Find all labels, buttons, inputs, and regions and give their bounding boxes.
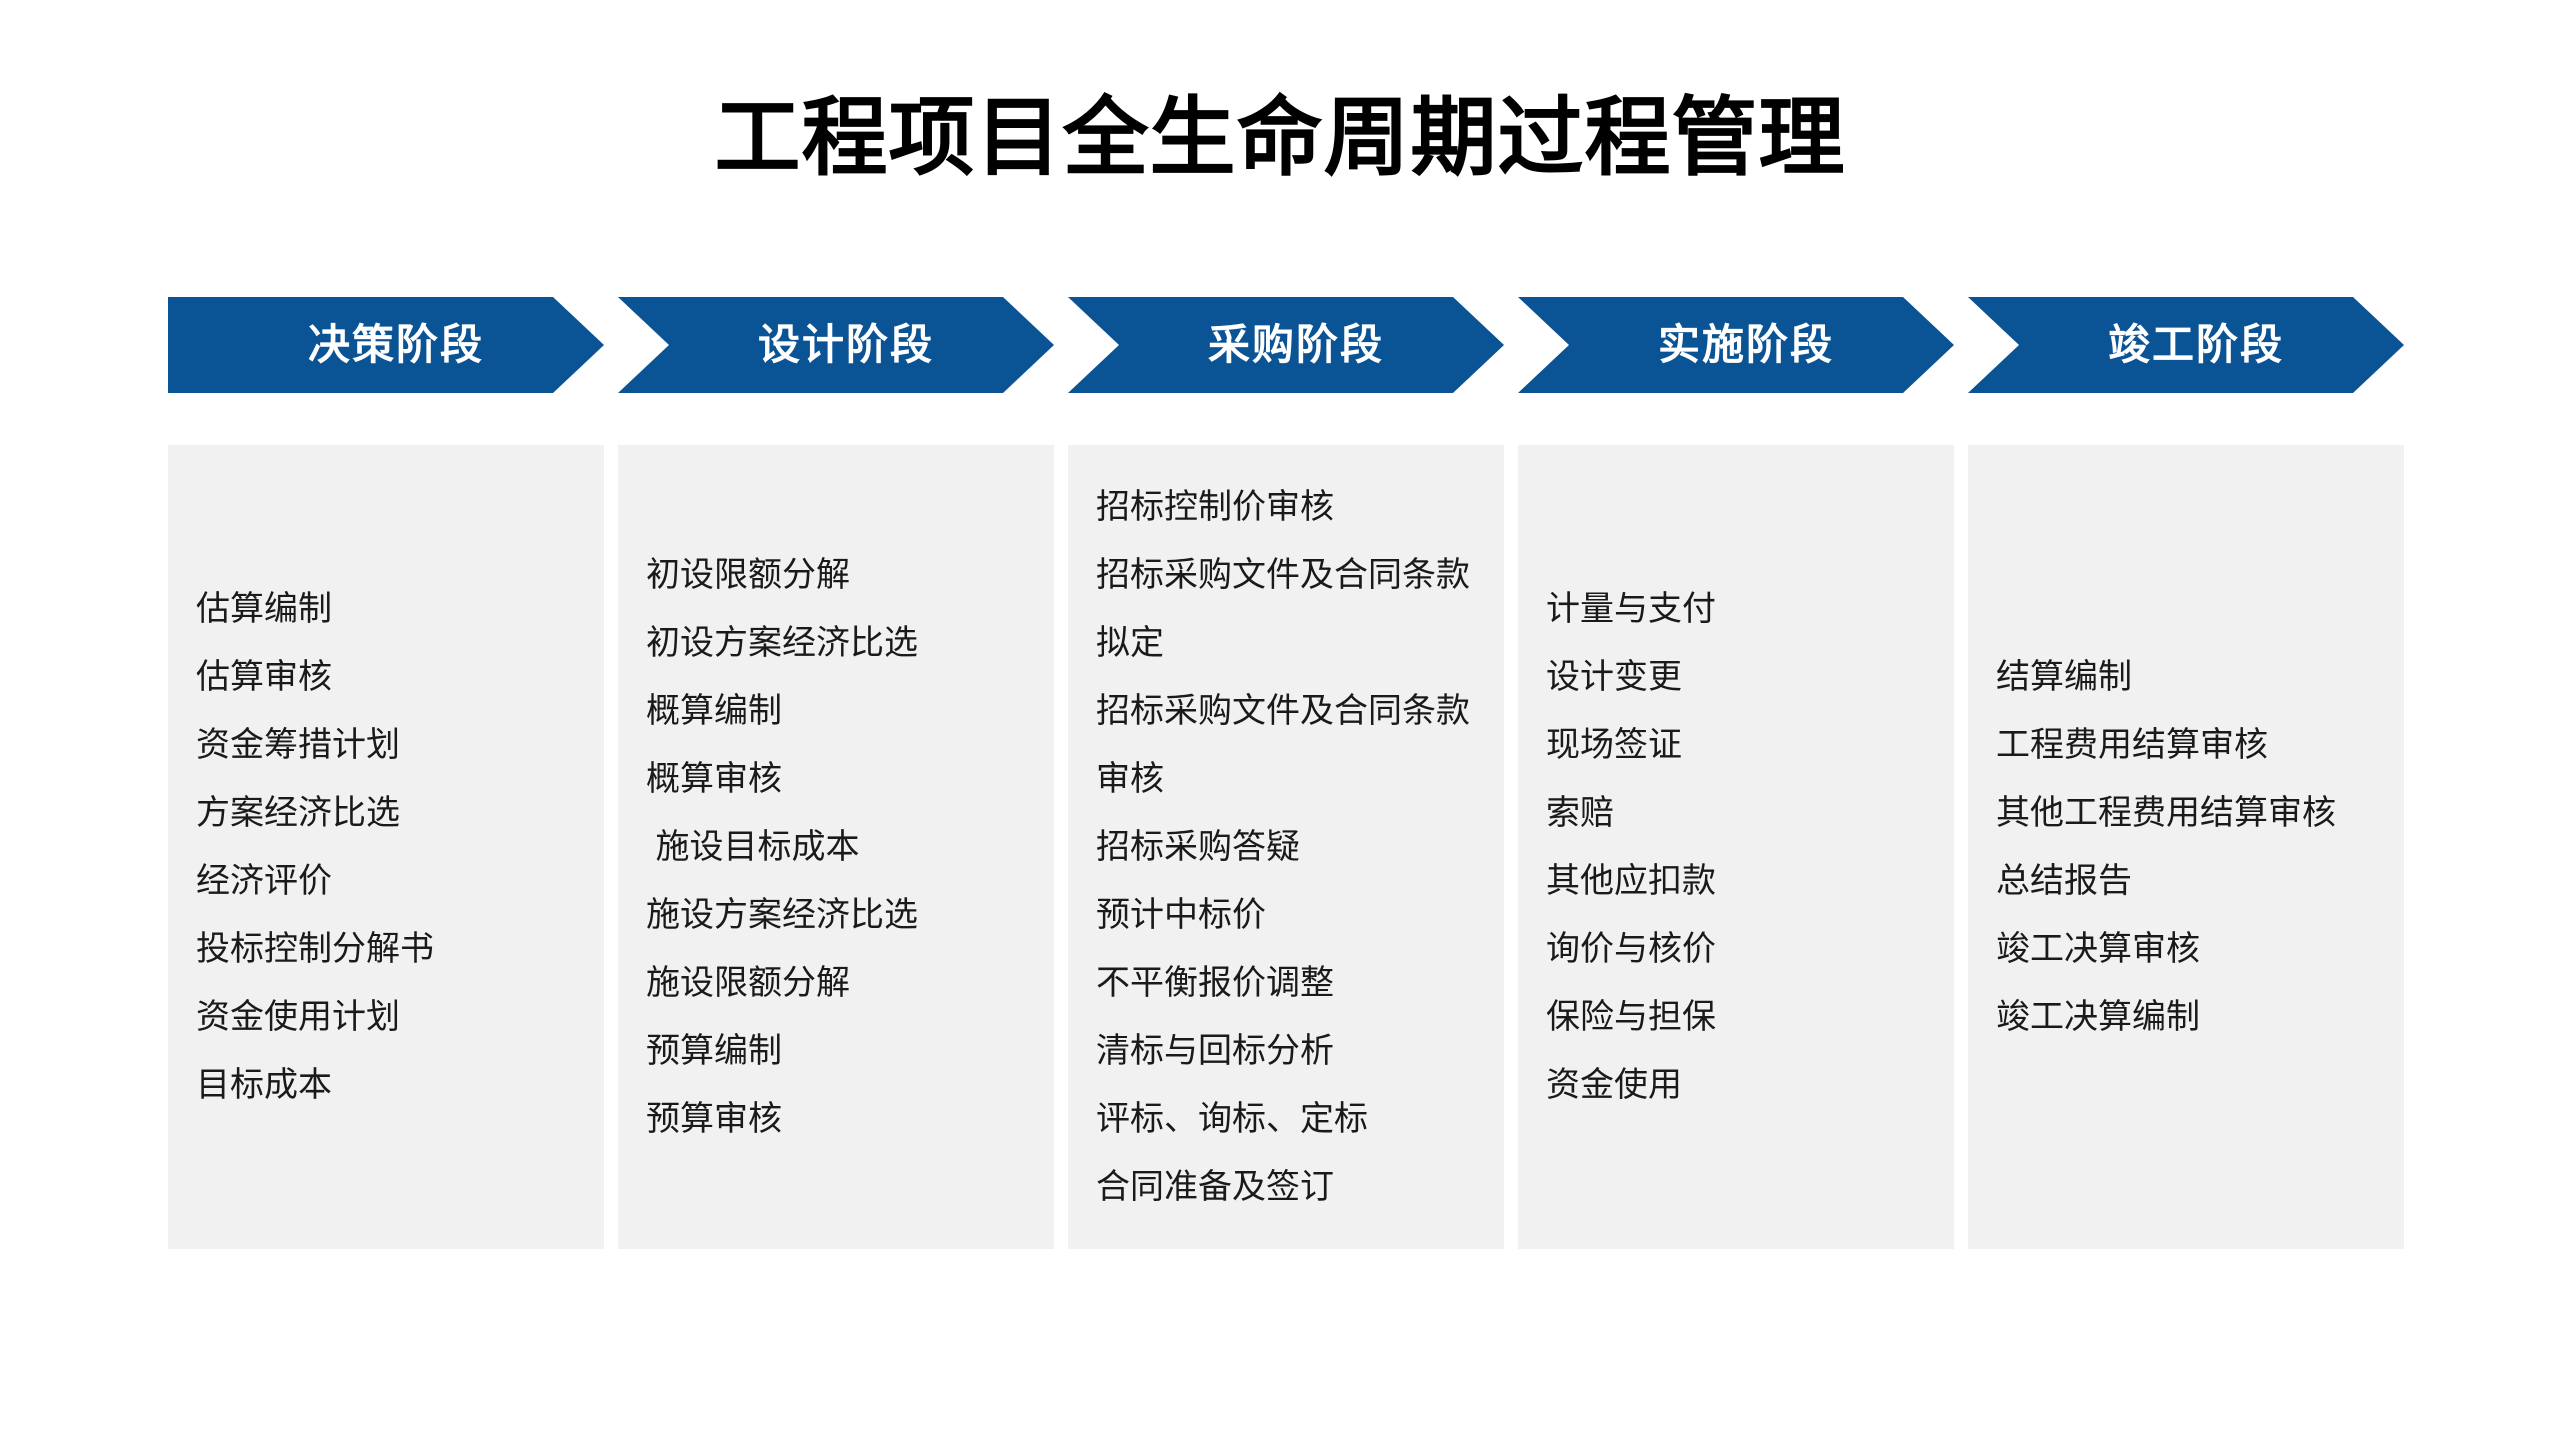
stage-panel-1: 估算编制 估算审核 资金筹措计划 方案经济比选 经济评价 投标控制分解书 资金使… — [168, 445, 604, 1249]
stage-label-5: 竣工阶段 — [2108, 321, 2284, 369]
list-item: 竣工决算编制 — [1996, 983, 2382, 1051]
list-item: 概算编制 — [646, 677, 1032, 745]
list-item: 现场签证 — [1546, 711, 1932, 779]
list-item: 经济评价 — [196, 847, 582, 915]
list-item: 估算编制 — [196, 575, 582, 643]
page-title: 工程项目全生命周期过程管理 — [0, 86, 2560, 190]
list-item: 方案经济比选 — [196, 779, 582, 847]
stage-item-list-2: 初设限额分解 初设方案经济比选 概算编制 概算审核 施设目标成本 施设方案经济比… — [646, 541, 1032, 1153]
list-item: 询价与核价 — [1546, 915, 1932, 983]
list-item: 总结报告 — [1996, 847, 2382, 915]
list-item: 招标采购答疑 — [1096, 813, 1482, 881]
list-item: 不平衡报价调整 — [1096, 949, 1482, 1017]
list-item: 招标采购文件及合同条款拟定 — [1096, 541, 1482, 677]
list-item: 设计变更 — [1546, 643, 1932, 711]
list-item: 初设方案经济比选 — [646, 609, 1032, 677]
stage-chevron-3[interactable]: 采购阶段 — [1068, 297, 1504, 393]
list-item: 资金使用计划 — [196, 983, 582, 1051]
list-item: 概算审核 — [646, 745, 1032, 813]
list-item: 目标成本 — [196, 1051, 582, 1119]
stage-column-4: 实施阶段 计量与支付 设计变更 现场签证 索赔 其他应扣款 询价与核价 保险与担… — [1518, 297, 1954, 1257]
slide-root: 工程项目全生命周期过程管理 决策阶段 估算编制 估算审核 资金筹措计划 方案经济… — [0, 0, 2560, 1440]
list-item: 结算编制 — [1996, 643, 2382, 711]
stage-label-3: 采购阶段 — [1208, 321, 1384, 369]
list-item: 竣工决算审核 — [1996, 915, 2382, 983]
list-item: 预算审核 — [646, 1085, 1032, 1153]
list-item: 施设目标成本 — [646, 813, 1032, 881]
stage-chevron-2[interactable]: 设计阶段 — [618, 297, 1054, 393]
list-item: 评标、询标、定标 — [1096, 1085, 1482, 1153]
stage-item-list-1: 估算编制 估算审核 资金筹措计划 方案经济比选 经济评价 投标控制分解书 资金使… — [196, 575, 582, 1119]
list-item: 资金筹措计划 — [196, 711, 582, 779]
list-item: 施设限额分解 — [646, 949, 1032, 1017]
list-item: 投标控制分解书 — [196, 915, 582, 983]
list-item: 保险与担保 — [1546, 983, 1932, 1051]
list-item: 招标控制价审核 — [1096, 473, 1482, 541]
stage-column-2: 设计阶段 初设限额分解 初设方案经济比选 概算编制 概算审核 施设目标成本 施设… — [618, 297, 1054, 1257]
stage-column-5: 竣工阶段 结算编制 工程费用结算审核 其他工程费用结算审核 总结报告 竣工决算审… — [1968, 297, 2404, 1257]
list-item: 预计中标价 — [1096, 881, 1482, 949]
stage-chevron-1[interactable]: 决策阶段 — [168, 297, 604, 393]
stage-column-3: 采购阶段 招标控制价审核 招标采购文件及合同条款拟定 招标采购文件及合同条款审核… — [1068, 297, 1504, 1257]
stage-panel-3: 招标控制价审核 招标采购文件及合同条款拟定 招标采购文件及合同条款审核 招标采购… — [1068, 445, 1504, 1249]
stage-column-1: 决策阶段 估算编制 估算审核 资金筹措计划 方案经济比选 经济评价 投标控制分解… — [168, 297, 604, 1257]
list-item: 资金使用 — [1546, 1051, 1932, 1119]
list-item: 索赔 — [1546, 779, 1932, 847]
stage-chevron-5[interactable]: 竣工阶段 — [1968, 297, 2404, 393]
list-item: 初设限额分解 — [646, 541, 1032, 609]
list-item: 估算审核 — [196, 643, 582, 711]
list-item: 清标与回标分析 — [1096, 1017, 1482, 1085]
list-item: 合同准备及签订 — [1096, 1153, 1482, 1221]
stage-pipeline: 决策阶段 估算编制 估算审核 资金筹措计划 方案经济比选 经济评价 投标控制分解… — [168, 297, 2430, 1257]
stage-item-list-4: 计量与支付 设计变更 现场签证 索赔 其他应扣款 询价与核价 保险与担保 资金使… — [1546, 575, 1932, 1119]
stage-chevron-4[interactable]: 实施阶段 — [1518, 297, 1954, 393]
list-item: 其他应扣款 — [1546, 847, 1932, 915]
list-item: 计量与支付 — [1546, 575, 1932, 643]
list-item: 其他工程费用结算审核 — [1996, 779, 2382, 847]
list-item: 施设方案经济比选 — [646, 881, 1032, 949]
list-item: 工程费用结算审核 — [1996, 711, 2382, 779]
stage-item-list-5: 结算编制 工程费用结算审核 其他工程费用结算审核 总结报告 竣工决算审核 竣工决… — [1996, 643, 2382, 1051]
stage-label-2: 设计阶段 — [758, 321, 934, 369]
stage-item-list-3: 招标控制价审核 招标采购文件及合同条款拟定 招标采购文件及合同条款审核 招标采购… — [1096, 473, 1482, 1221]
stage-label-4: 实施阶段 — [1658, 321, 1834, 369]
stage-panel-4: 计量与支付 设计变更 现场签证 索赔 其他应扣款 询价与核价 保险与担保 资金使… — [1518, 445, 1954, 1249]
list-item: 招标采购文件及合同条款审核 — [1096, 677, 1482, 813]
stage-label-1: 决策阶段 — [308, 321, 484, 369]
stage-panel-5: 结算编制 工程费用结算审核 其他工程费用结算审核 总结报告 竣工决算审核 竣工决… — [1968, 445, 2404, 1249]
list-item: 预算编制 — [646, 1017, 1032, 1085]
stage-panel-2: 初设限额分解 初设方案经济比选 概算编制 概算审核 施设目标成本 施设方案经济比… — [618, 445, 1054, 1249]
